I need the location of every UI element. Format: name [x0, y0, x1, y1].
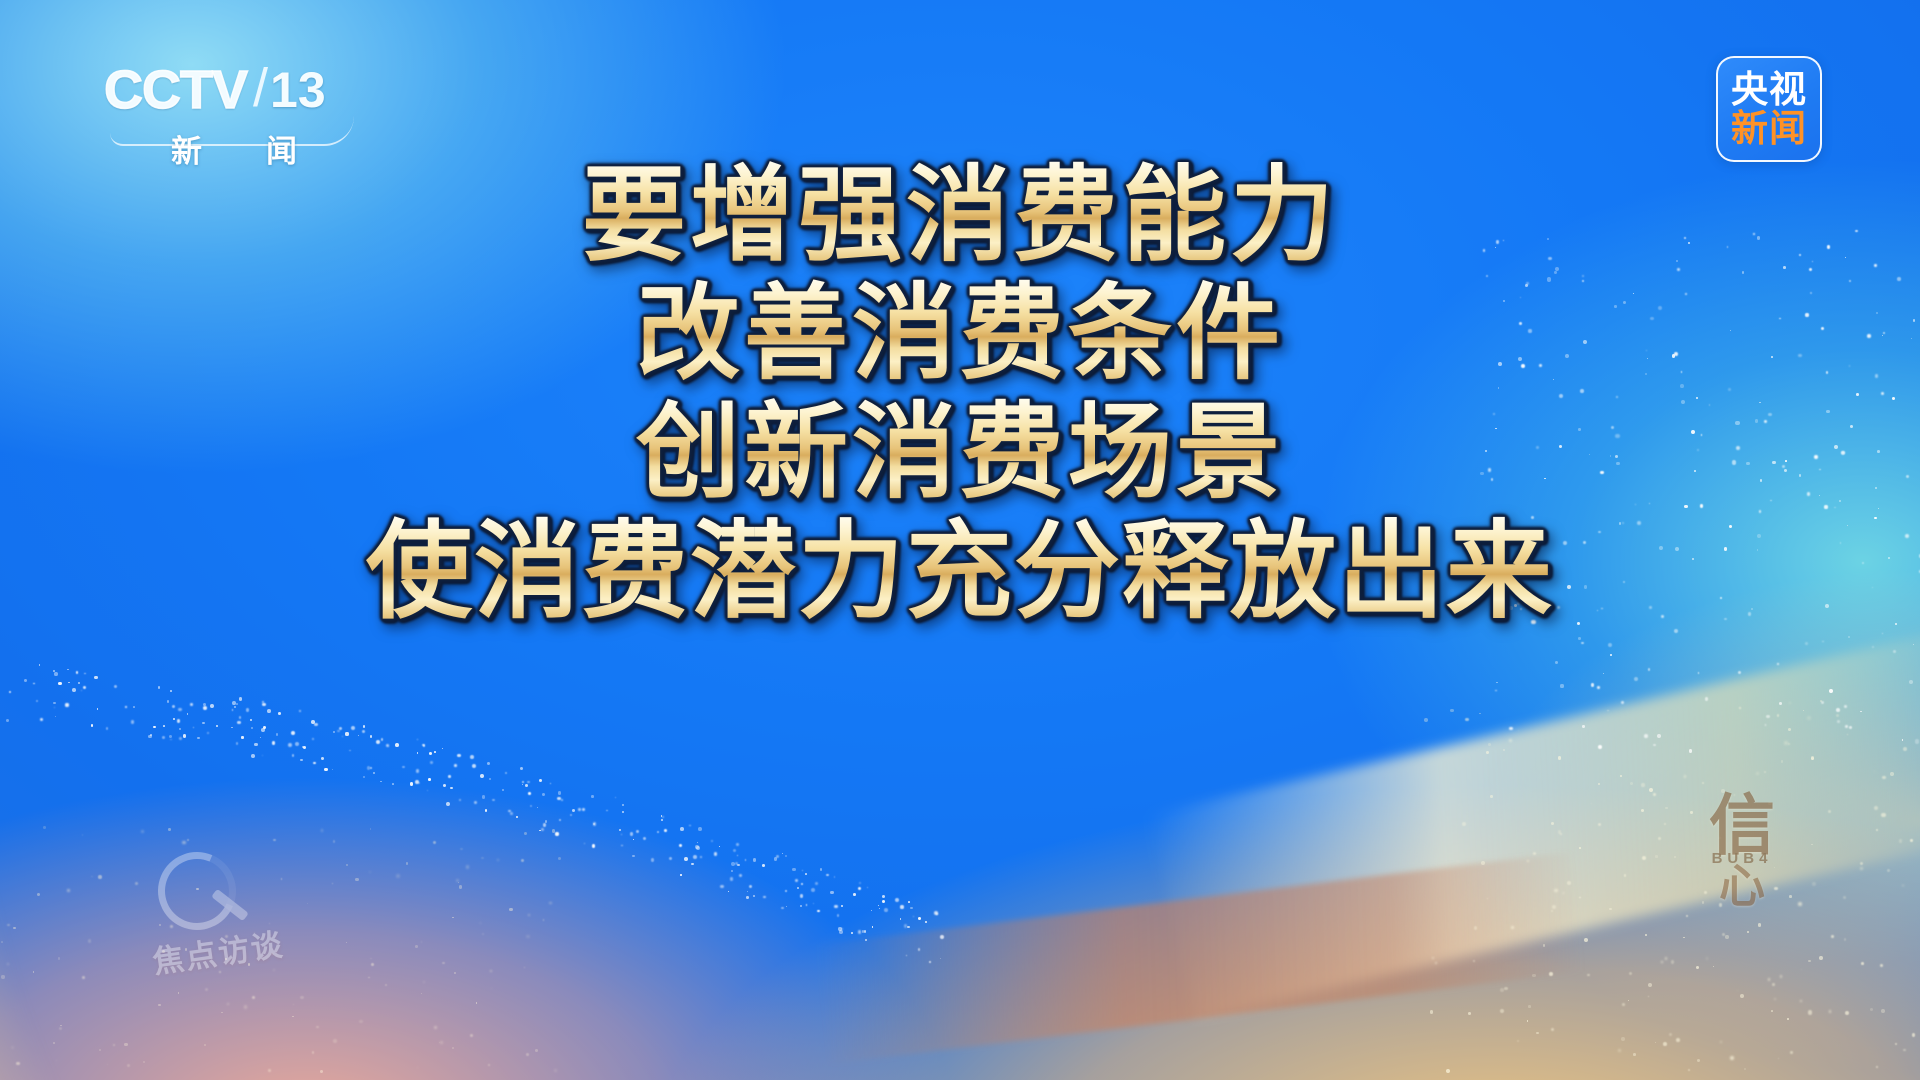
cctv-channel-number: 13 — [270, 61, 326, 119]
brand-logo-bottom-text: 新闻 — [1731, 110, 1807, 148]
headline-line-2: 改善消费条件 — [636, 278, 1284, 390]
broadcast-title-card: CCTV / 13 新 闻 央视 新闻 要增强消费能力 改善消费条件 创新消费场… — [0, 0, 1920, 1080]
headline-block: 要增强消费能力 改善消费条件 创新消费场景 使消费潜力充分释放出来 — [0, 160, 1920, 629]
cctv-wordmark: CCTV — [104, 63, 247, 117]
theme-watermark: 信 BUB4 心 — [1676, 794, 1808, 942]
cctv-logo-row: CCTV / 13 — [104, 62, 354, 118]
headline-line-1: 要增强消费能力 — [582, 160, 1338, 272]
program-watermark: 焦点访谈 — [148, 856, 378, 976]
headline-line-4: 使消费潜力充分释放出来 — [366, 515, 1554, 629]
theme-watermark-bottom-char: 心 — [1719, 863, 1765, 909]
program-watermark-text: 焦点访谈 — [150, 919, 287, 982]
headline-line-3: 创新消费场景 — [636, 397, 1284, 509]
brand-logo-top-text: 央视 — [1731, 71, 1807, 109]
cctv13-channel-logo: CCTV / 13 新 闻 — [104, 62, 354, 170]
cctv-slash-icon: / — [253, 57, 268, 119]
theme-watermark-top-char: 信 — [1709, 794, 1775, 856]
cctv-news-brand-logo: 央视 新闻 — [1716, 56, 1822, 162]
